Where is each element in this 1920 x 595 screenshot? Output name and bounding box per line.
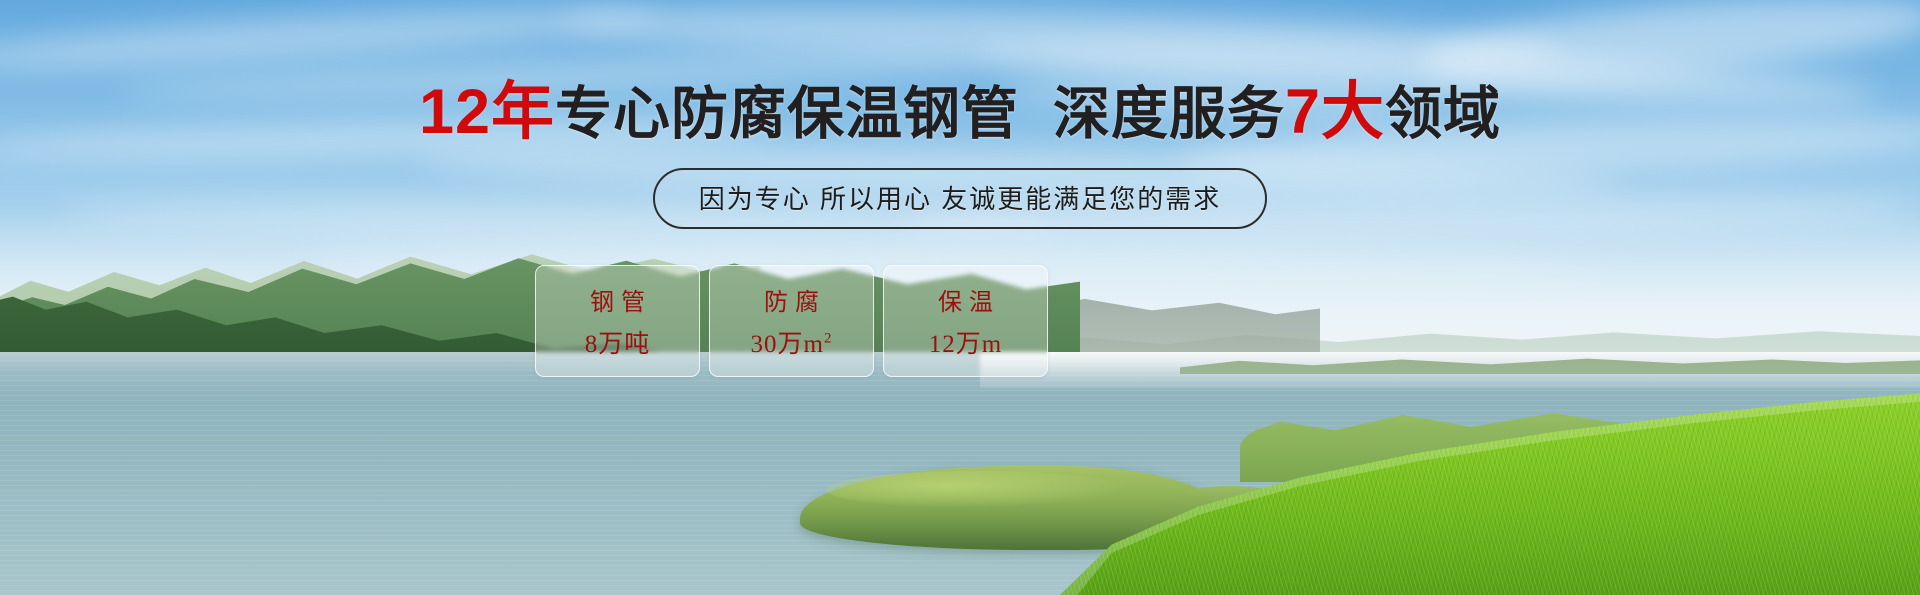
stat-card-label: 保温 (931, 282, 1000, 317)
stat-card-value: 8万吨 (585, 324, 651, 360)
stat-card-label: 钢管 (583, 282, 652, 317)
headline-service: 深度服务 (1053, 82, 1285, 146)
subtitle-pill: 因为专心 所以用心 友诚更能满足您的需求 (653, 168, 1267, 229)
stat-card-value-text: 8万吨 (585, 331, 651, 358)
stat-card-insulation[interactable]: 保温 12万m (883, 265, 1048, 377)
stat-card-value: 12万m (929, 324, 1002, 360)
stat-card-steel-pipe[interactable]: 钢管 8万吨 (535, 265, 700, 377)
headline-fields: 领域 (1385, 82, 1501, 146)
stat-card-anticorrosion[interactable]: 防腐 30万m2 (709, 265, 874, 377)
stat-card-value: 30万m2 (751, 324, 833, 360)
stat-card-value-text: 12万m (929, 331, 1002, 358)
stat-card-list: 钢管 8万吨 防腐 30万m2 保温 12万m (535, 265, 1048, 377)
stat-card-label: 防腐 (757, 282, 826, 317)
headline-years: 12年 (419, 77, 555, 147)
banner-content: 12年专心防腐保温钢管深度服务7大领域 因为专心 所以用心 友诚更能满足您的需求… (0, 0, 1920, 595)
headline-focus: 专心防腐保温钢管 (555, 82, 1019, 146)
headline: 12年专心防腐保温钢管深度服务7大领域 (0, 78, 1920, 147)
hero-banner: 12年专心防腐保温钢管深度服务7大领域 因为专心 所以用心 友诚更能满足您的需求… (0, 0, 1920, 595)
stat-card-value-text: 30万m (751, 331, 824, 358)
headline-seven: 7大 (1285, 77, 1385, 147)
stat-card-value-sup: 2 (824, 331, 833, 347)
subtitle-container: 因为专心 所以用心 友诚更能满足您的需求 (0, 168, 1920, 229)
